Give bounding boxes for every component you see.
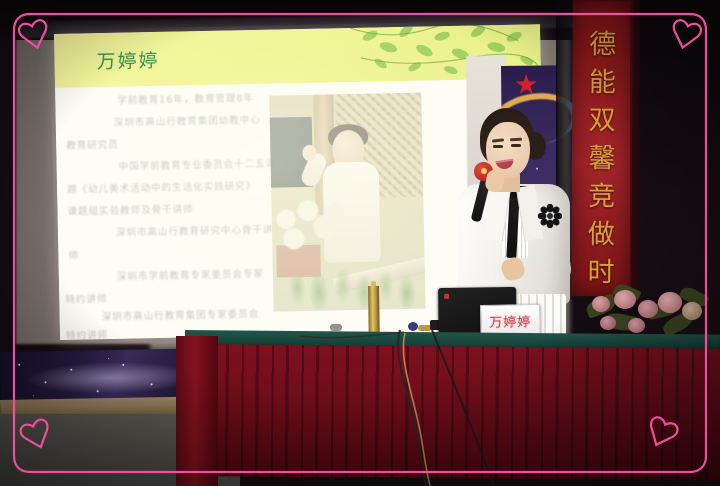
banner-char: 做 <box>571 212 631 251</box>
slide-bullet: 教育研究员 <box>66 137 119 152</box>
left-red-curtain <box>176 336 218 486</box>
microphone-highlight <box>481 168 487 174</box>
flower-brooch-icon <box>538 204 562 228</box>
slide-bullet: 中国学前教育专业委员会十二五课 <box>119 156 277 173</box>
slide-bullet: 师 <box>68 248 79 262</box>
banner-char: 竞 <box>572 174 632 213</box>
banner-char: 馨 <box>572 136 632 175</box>
photo-scene: 万婷婷 学前教育16年，教育管理8年 深圳市高山行教育集团幼教中心 教育研究员 … <box>0 0 720 486</box>
flower-arrangement <box>584 276 720 338</box>
banner-char: 德 <box>573 22 633 61</box>
slide-bullet: 深圳市高山行教育研究中心骨干讲 <box>116 222 274 239</box>
slide-bullet: 课题组实验教师及骨干讲师 <box>67 201 193 218</box>
banner-char: 能 <box>572 60 632 99</box>
slide-title: 万婷婷 <box>96 46 160 74</box>
thinkpad-logo-icon <box>444 294 449 299</box>
banner-char: 双 <box>572 98 632 137</box>
speaker-eye <box>511 144 521 147</box>
nameplate-text: 万婷婷 <box>489 311 531 331</box>
slide-bullet: 特约讲师 <box>66 327 108 340</box>
slide-bullet: 深圳市学前教育专家委员会专家 <box>117 266 264 283</box>
desk-small-object <box>408 322 418 331</box>
slide-bullet: 学前教育16年，教育管理8年 <box>117 90 254 107</box>
slide-bullet: 题《幼儿美术活动中的生活化实践研究》 <box>67 178 256 196</box>
gold-cylinder-object <box>368 286 380 336</box>
slide-bullet: 深圳市高山行教育集团专家委员会 <box>102 306 260 323</box>
slide-bullet: 特约讲师 <box>65 291 107 306</box>
table-skirt <box>181 344 720 481</box>
desk-small-object <box>330 324 342 331</box>
slide-inline-photo <box>269 93 425 312</box>
couplet-banner: 德 能 双 馨 竞 做 时 <box>571 0 633 296</box>
speaker-eye <box>493 145 503 148</box>
slide-bullet: 深圳市高山行教育集团幼教中心 <box>114 112 261 129</box>
